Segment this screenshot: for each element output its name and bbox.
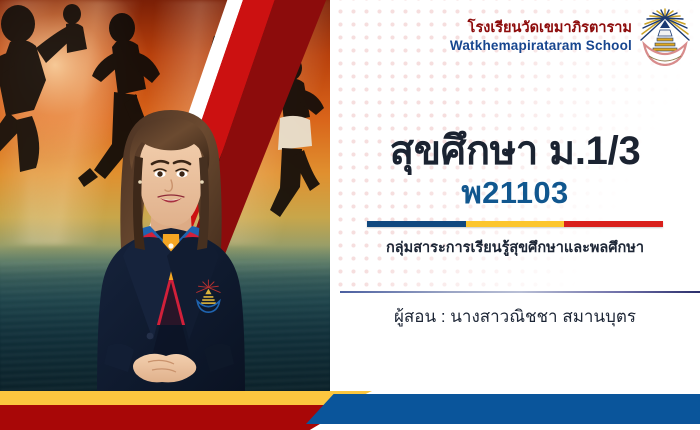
bottom-band-blue: [306, 394, 700, 424]
tricolor-divider: [367, 221, 663, 227]
divider-segment-gold: [466, 221, 565, 227]
subject-name: สุขศึกษา ม.1/3: [335, 130, 695, 173]
school-crest-icon: [638, 8, 692, 66]
teacher-portrait: [78, 104, 264, 396]
bottom-band-yellow: [0, 391, 372, 405]
school-header: โรงเรียนวัดเขมาภิรตาราม Watkhemapiratara…: [450, 8, 692, 66]
course-title-card: โรงเรียนวัดเขมาภิรตาราม Watkhemapiratara…: [0, 0, 700, 430]
teacher-divider: [340, 291, 700, 293]
divider-segment-red: [564, 221, 663, 227]
school-name-block: โรงเรียนวัดเขมาภิรตาราม Watkhemapiratara…: [450, 20, 632, 53]
school-name-th: โรงเรียนวัดเขมาภิรตาราม: [450, 20, 632, 37]
divider-segment-navy: [367, 221, 466, 227]
bottom-band-red: [0, 405, 352, 430]
subject-code: พ21103: [335, 177, 695, 210]
title-block: สุขศึกษา ม.1/3 พ21103 กลุ่มสาระการเรียนร…: [335, 130, 695, 259]
school-name-en: Watkhemapirataram School: [450, 38, 632, 54]
department-name: กลุ่มสาระการเรียนรู้สุขศึกษาและพลศึกษา: [335, 236, 695, 259]
teacher-name: ผู้สอน : นางสาวณิชชา สมานบุตร: [335, 303, 695, 330]
